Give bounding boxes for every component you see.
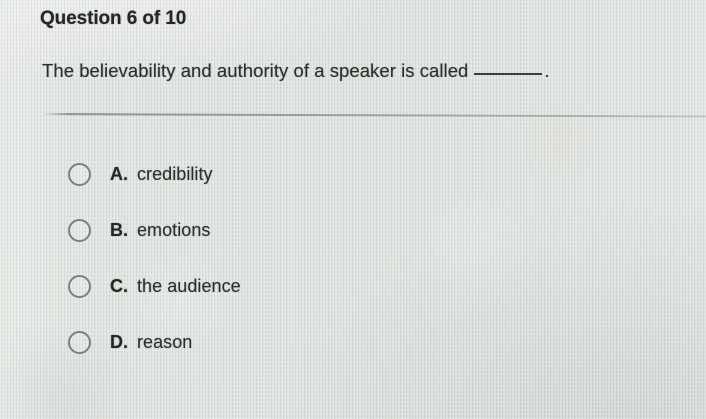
answer-option-a[interactable]: A. credibility xyxy=(0,146,706,202)
answer-option-b[interactable]: B. emotions xyxy=(0,202,706,258)
radio-unchecked-icon[interactable] xyxy=(68,275,91,298)
question-prompt-text: The believability and authority of a spe… xyxy=(42,60,468,81)
answer-options-list: A. credibility B. emotions C. the audien… xyxy=(0,146,706,370)
answer-option-d[interactable]: D. reason xyxy=(0,314,706,370)
radio-unchecked-icon[interactable] xyxy=(68,219,91,242)
option-letter: B. xyxy=(110,220,128,241)
option-label: reason xyxy=(137,332,192,353)
option-letter: C. xyxy=(110,276,128,297)
radio-unchecked-icon[interactable] xyxy=(68,163,91,186)
option-label: emotions xyxy=(137,220,210,241)
question-prompt: The believability and authority of a spe… xyxy=(42,60,550,82)
question-heading: Question 6 of 10 xyxy=(40,8,186,30)
section-divider xyxy=(42,113,706,118)
option-label: credibility xyxy=(137,164,213,185)
question-blank xyxy=(474,61,542,75)
quiz-screen: Question 6 of 10 The believability and a… xyxy=(0,0,706,419)
option-letter: A. xyxy=(110,164,128,185)
answer-option-c[interactable]: C. the audience xyxy=(0,258,706,314)
question-prompt-period: . xyxy=(544,60,549,81)
option-letter: D. xyxy=(110,332,128,353)
radio-unchecked-icon[interactable] xyxy=(68,331,91,354)
option-label: the audience xyxy=(137,276,241,297)
